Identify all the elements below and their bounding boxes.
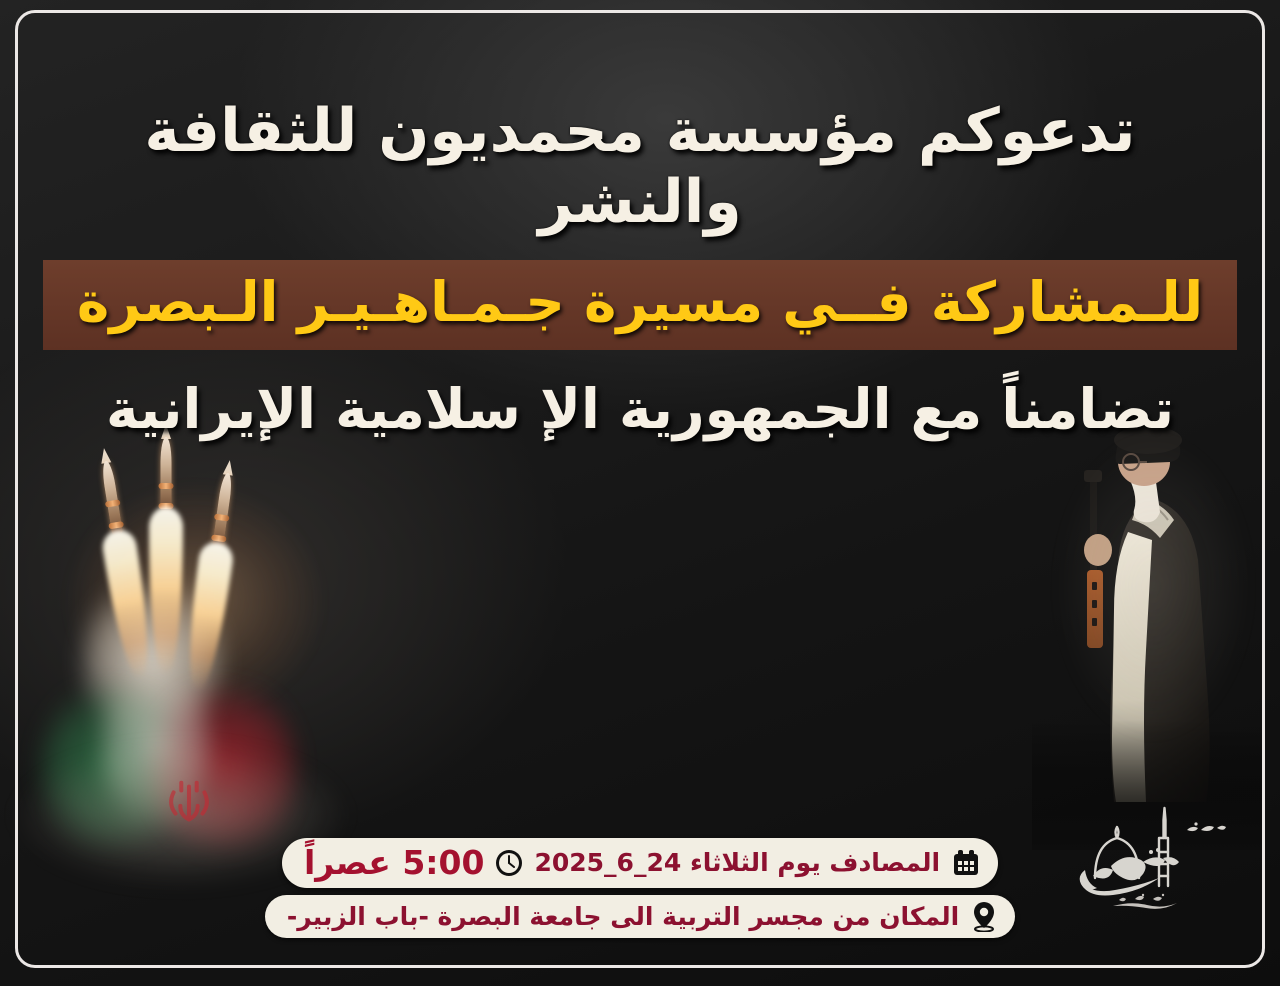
- headline-line-3: تضامناً مع الجمهورية الإ سلامية الإيراني…: [0, 376, 1280, 442]
- brand-top-word-glyph: [1187, 822, 1226, 831]
- missile-body: [161, 437, 172, 511]
- headline-band-wrapper: للـمشاركة فــي مسيرة جـمـاهـيـر الـبصرة: [0, 260, 1280, 351]
- date-time-pill: المصادف يوم الثلاثاء 24_6_2025 5:00 عصرا…: [282, 838, 998, 888]
- map-pin-icon: [969, 900, 999, 932]
- poster-root: تدعوكم مؤسسة محمديون للثقافة والنشر للـم…: [0, 0, 1280, 986]
- event-time-text: 5:00 عصراً: [304, 843, 484, 882]
- location-pill: المكان من مجسر التربية الى جامعة البصرة …: [265, 895, 1015, 938]
- calendar-icon: [950, 847, 982, 879]
- clock-icon: [494, 848, 524, 878]
- headline-line-2-highlight: للـمشاركة فــي مسيرة جـمـاهـيـر الـبصرة: [43, 260, 1237, 351]
- event-location-text: المكان من مجسر التربية الى جامعة البصرة …: [287, 902, 959, 931]
- event-date-text: المصادف يوم الثلاثاء 24_6_2025: [534, 848, 940, 877]
- iran-flag-emblem: [158, 777, 220, 829]
- headline-block: تدعوكم مؤسسة محمديون للثقافة والنشر للـم…: [0, 96, 1280, 442]
- missile-ring: [159, 483, 174, 489]
- brand-logo: [1059, 800, 1234, 928]
- cleric-figure-with-rifle-illustration: [1032, 420, 1262, 850]
- brand-tagline-glyph: [1113, 894, 1177, 909]
- headline-line-1: تدعوكم مؤسسة محمديون للثقافة والنشر: [0, 96, 1280, 238]
- three-missiles-launch-illustration: [30, 455, 360, 875]
